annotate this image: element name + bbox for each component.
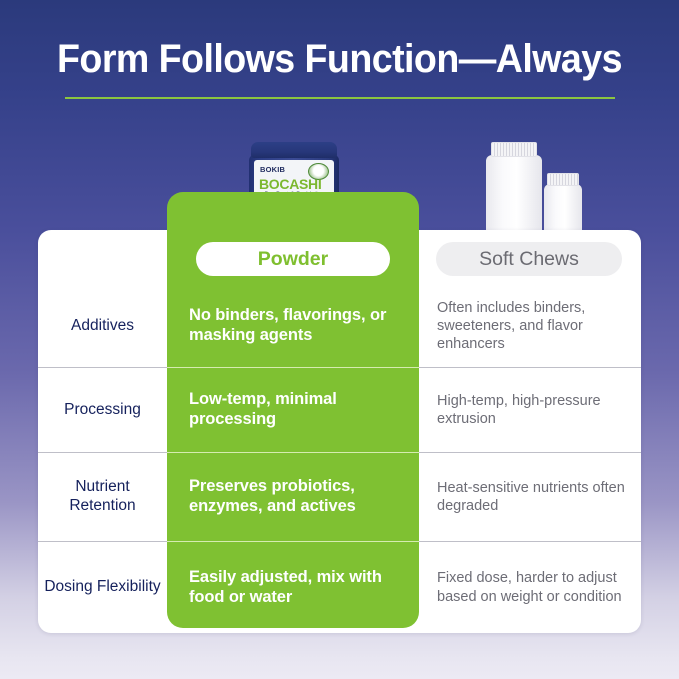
row-powder-cell: No binders, flavorings, or masking agent… <box>167 285 419 367</box>
table-row: Nutrient Retention Preserves probiotics,… <box>38 452 641 541</box>
row-powder-cell: Easily adjusted, mix with food or water <box>167 541 419 633</box>
row-powder-text: No binders, flavorings, or masking agent… <box>189 306 397 346</box>
row-feature-label: Processing <box>38 367 167 452</box>
title-underline-rule <box>65 97 615 99</box>
row-chews-text: Heat-sensitive nutrients often degraded <box>437 479 627 515</box>
bottle-small-cap <box>547 173 579 186</box>
jar-product-name: BOCASHI <box>259 177 321 191</box>
infographic-page: Form Follows Function—Always BOKIB BOCAS… <box>0 0 679 679</box>
row-chews-text: Fixed dose, harder to adjust based on we… <box>437 569 627 605</box>
row-powder-cell: Preserves probiotics, enzymes, and activ… <box>167 452 419 541</box>
row-chews-text: Often includes binders, sweeteners, and … <box>437 299 627 353</box>
bottle-large-cap <box>491 142 537 157</box>
bottle-large-body <box>486 155 542 238</box>
page-title: Form Follows Function—Always <box>20 38 658 80</box>
comparison-header-row: Powder Soft Chews <box>38 230 641 285</box>
soft-chew-bottles-image <box>486 142 582 238</box>
row-powder-text: Low-temp, minimal processing <box>189 390 397 430</box>
row-feature-text: Processing <box>64 401 141 420</box>
row-feature-label: Nutrient Retention <box>38 452 167 541</box>
table-row: Additives No binders, flavorings, or mas… <box>38 285 641 367</box>
pill-bottle-large-icon <box>486 142 542 238</box>
row-feature-text: Additives <box>71 317 134 336</box>
row-feature-label: Additives <box>38 285 167 367</box>
table-row: Dosing Flexibility Easily adjusted, mix … <box>38 541 641 633</box>
row-chews-cell: Fixed dose, harder to adjust based on we… <box>419 541 641 633</box>
column-header-powder: Powder <box>196 242 390 276</box>
row-chews-cell: High-temp, high-pressure extrusion <box>419 367 641 452</box>
column-header-soft-chews: Soft Chews <box>436 242 622 276</box>
comparison-rows: Additives No binders, flavorings, or mas… <box>38 285 641 633</box>
row-powder-text: Preserves probiotics, enzymes, and activ… <box>189 477 397 517</box>
table-row: Processing Low-temp, minimal processing … <box>38 367 641 452</box>
row-feature-label: Dosing Flexibility <box>38 541 167 633</box>
comparison-table-card: Powder Soft Chews Additives No binders, … <box>38 230 641 633</box>
row-chews-cell: Heat-sensitive nutrients often degraded <box>419 452 641 541</box>
row-feature-text: Dosing Flexibility <box>44 578 160 597</box>
jar-brand-text: BOKIB <box>260 165 285 174</box>
row-powder-cell: Low-temp, minimal processing <box>167 367 419 452</box>
jar-lid <box>251 142 337 158</box>
row-powder-text: Easily adjusted, mix with food or water <box>189 568 397 608</box>
row-chews-text: High-temp, high-pressure extrusion <box>437 392 627 428</box>
row-feature-text: Nutrient Retention <box>44 478 161 516</box>
title-block: Form Follows Function—Always <box>0 38 679 99</box>
pill-bottle-small-icon <box>544 173 582 238</box>
row-chews-cell: Often includes binders, sweeteners, and … <box>419 285 641 367</box>
